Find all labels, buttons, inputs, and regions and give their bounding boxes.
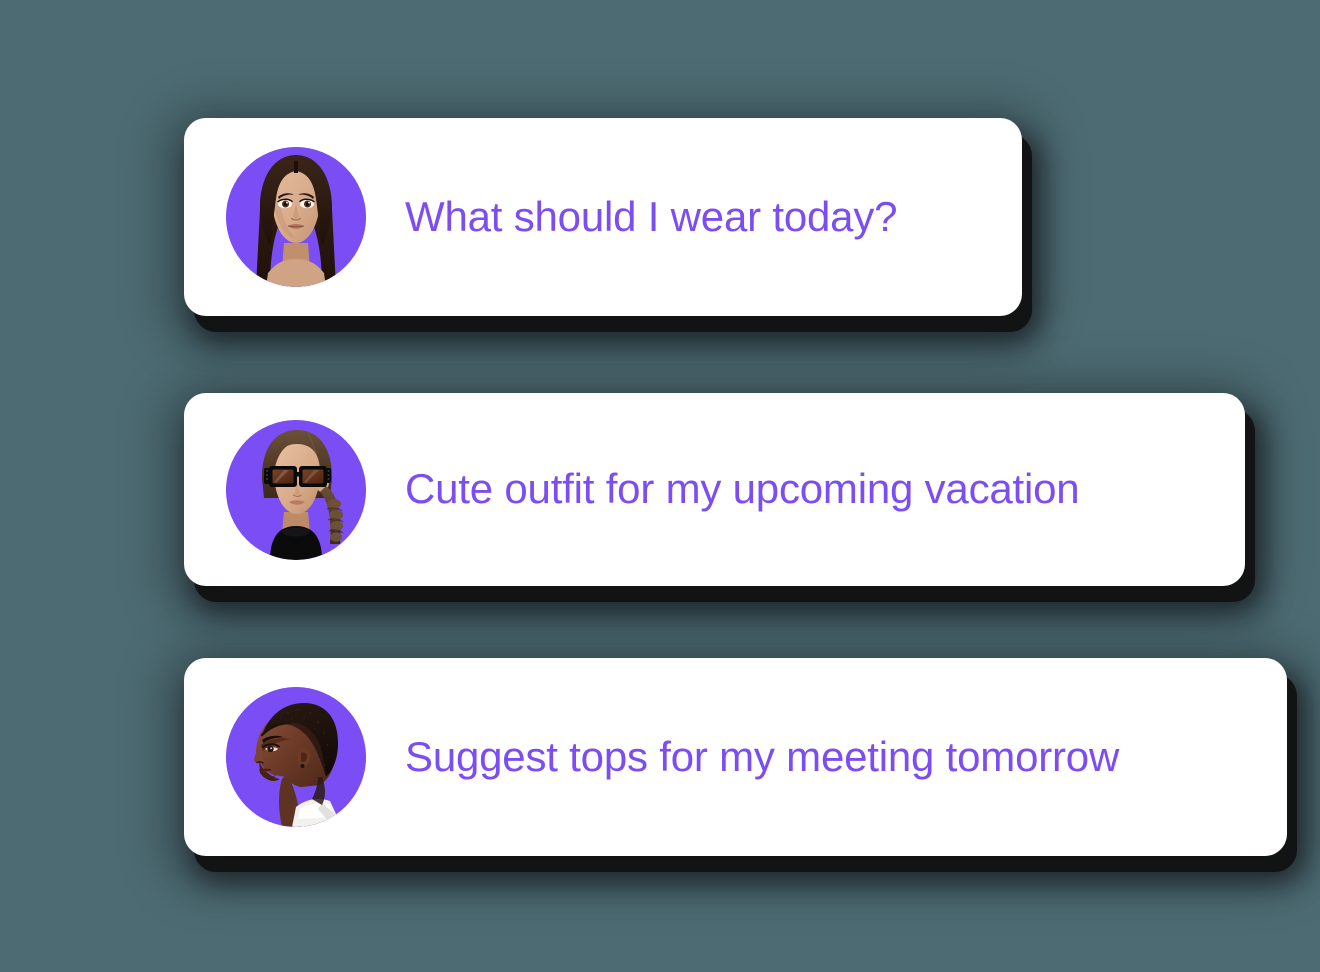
suggestion-card-label: Suggest tops for my meeting tomorrow	[405, 735, 1119, 779]
avatar-woman-front-facing	[226, 147, 366, 287]
avatar-woman-sunglasses	[226, 420, 366, 560]
suggestion-card-suggest-tops-for-meeting[interactable]: Suggest tops for my meeting tomorrow	[184, 658, 1287, 856]
suggestion-card-stack: What should I wear today?	[0, 0, 1320, 972]
suggestion-card-label: What should I wear today?	[405, 195, 897, 239]
suggestion-card-label: Cute outfit for my upcoming vacation	[405, 467, 1079, 511]
avatar-man-profile	[226, 687, 366, 827]
suggestion-card-cute-outfit-for-vacation[interactable]: Cute outfit for my upcoming vacation	[184, 393, 1245, 586]
suggestion-card-what-should-i-wear-today[interactable]: What should I wear today?	[184, 118, 1022, 316]
